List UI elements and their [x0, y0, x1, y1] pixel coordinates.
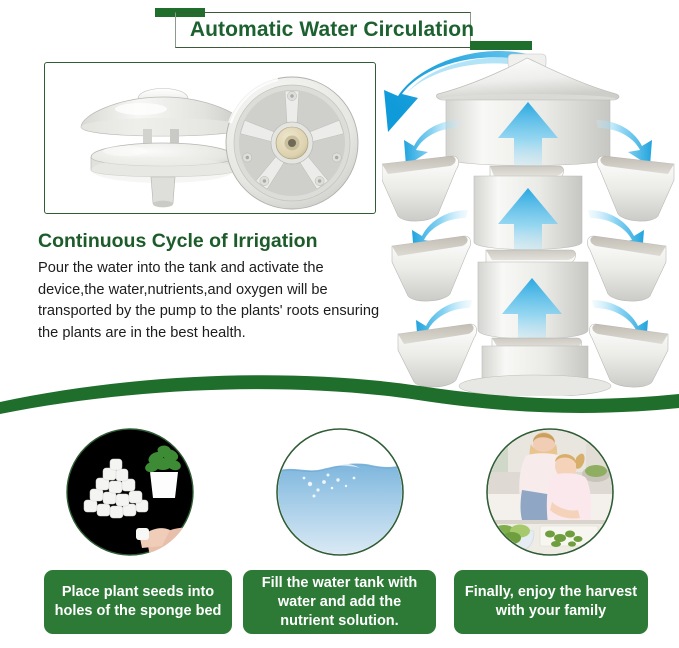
step-3-image: [486, 428, 614, 556]
sprinkler-views: [45, 63, 374, 212]
plant-pot: [150, 472, 178, 498]
section-divider: [0, 368, 679, 420]
section-body-text: Pour the water into the tank and activat…: [38, 258, 386, 344]
section-heading: Continuous Cycle of Irrigation: [38, 230, 318, 253]
step-1-caption-text: Place plant seeds into holes of the spon…: [51, 583, 225, 621]
infographic-page: Automatic Water Circulation: [0, 0, 679, 648]
step-2-image: [276, 428, 404, 556]
step-2-caption: Fill the water tank with water and add t…: [243, 570, 436, 634]
step-1-caption: Place plant seeds into holes of the spon…: [44, 570, 232, 634]
product-inset-frame: [44, 62, 376, 214]
sprinkler-side-view: [81, 89, 245, 208]
step-3-caption-text: Finally, enjoy the harvest with your fam…: [461, 583, 641, 621]
page-title: Automatic Water Circulation: [182, 13, 482, 47]
step-2-caption-text: Fill the water tank with water and add t…: [250, 574, 429, 631]
step-1-image: [66, 428, 194, 556]
tower-illustration: [382, 46, 679, 396]
step-3-caption: Finally, enjoy the harvest with your fam…: [454, 570, 648, 634]
sprinkler-bottom-view: [226, 77, 358, 209]
